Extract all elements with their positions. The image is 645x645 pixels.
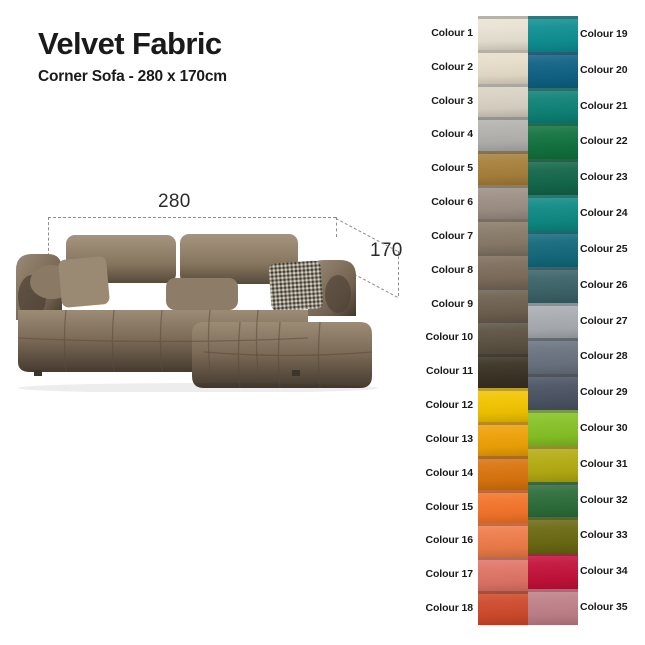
- swatch-label-colour-29: Colour 29: [580, 387, 628, 398]
- swatch-sheen: [528, 517, 578, 553]
- swatch-colour-30[interactable]: [528, 410, 578, 446]
- swatch-label-colour-33: Colour 33: [580, 530, 628, 541]
- swatch-label-colour-26: Colour 26: [580, 280, 628, 291]
- swatch-sheen: [478, 320, 528, 354]
- swatch-label-colour-27: Colour 27: [580, 316, 628, 327]
- swatch-label-colour-5: Colour 5: [431, 163, 473, 174]
- swatch-label-colour-23: Colour 23: [580, 172, 628, 183]
- swatch-label-colour-19: Colour 19: [580, 29, 628, 40]
- swatch-colour-3[interactable]: [478, 84, 528, 118]
- swatch-label-colour-32: Colour 32: [580, 495, 628, 506]
- swatch-label-colour-22: Colour 22: [580, 136, 628, 147]
- swatch-sheen: [478, 50, 528, 84]
- swatch-colour-7[interactable]: [478, 219, 528, 253]
- swatch-sheen: [528, 553, 578, 589]
- swatch-colour-35[interactable]: [528, 589, 578, 625]
- swatch-sheen: [478, 253, 528, 287]
- page-subtitle: Corner Sofa - 280 x 170cm: [38, 68, 227, 86]
- swatch-colour-5[interactable]: [478, 151, 528, 185]
- swatch-colour-28[interactable]: [528, 338, 578, 374]
- swatch-label-colour-15: Colour 15: [425, 502, 473, 513]
- swatch-colour-14[interactable]: [478, 456, 528, 490]
- swatch-sheen: [478, 456, 528, 490]
- swatch-colour-21[interactable]: [528, 88, 578, 124]
- swatch-sheen: [478, 219, 528, 253]
- swatch-label-colour-20: Colour 20: [580, 65, 628, 76]
- swatch-colour-31[interactable]: [528, 446, 578, 482]
- swatch-label-colour-11: Colour 11: [426, 366, 473, 377]
- swatch-sheen: [528, 16, 578, 52]
- swatch-label-colour-10: Colour 10: [425, 332, 473, 343]
- swatch-label-colour-14: Colour 14: [425, 468, 473, 479]
- swatch-sheen: [528, 446, 578, 482]
- swatch-label-colour-24: Colour 24: [580, 208, 628, 219]
- swatch-colour-19[interactable]: [528, 16, 578, 52]
- swatch-label-colour-28: Colour 28: [580, 351, 628, 362]
- swatch-label-colour-6: Colour 6: [431, 197, 473, 208]
- swatch-label-colour-35: Colour 35: [580, 602, 628, 613]
- swatch-sheen: [478, 287, 528, 321]
- swatch-label-colour-13: Colour 13: [425, 434, 473, 445]
- swatch-colour-16[interactable]: [478, 523, 528, 557]
- swatch-sheen: [528, 410, 578, 446]
- swatch-label-colour-12: Colour 12: [425, 400, 473, 411]
- width-dimension-line: [48, 217, 336, 218]
- swatch-label-colour-7: Colour 7: [431, 231, 473, 242]
- swatch-colour-17[interactable]: [478, 557, 528, 591]
- swatch-colour-2[interactable]: [478, 50, 528, 84]
- title-block: Velvet Fabric Corner Sofa - 280 x 170cm: [38, 28, 227, 86]
- swatch-sheen: [528, 374, 578, 410]
- swatch-colour-29[interactable]: [528, 374, 578, 410]
- swatch-colour-32[interactable]: [528, 482, 578, 518]
- swatch-colour-6[interactable]: [478, 185, 528, 219]
- swatch-sheen: [528, 88, 578, 124]
- swatch-colour-34[interactable]: [528, 553, 578, 589]
- swatch-colour-33[interactable]: [528, 517, 578, 553]
- swatch-colour-15[interactable]: [478, 490, 528, 524]
- swatch-colour-11[interactable]: [478, 354, 528, 388]
- swatch-sheen: [478, 84, 528, 118]
- swatch-sheen: [528, 52, 578, 88]
- page-title: Velvet Fabric: [38, 28, 227, 59]
- swatch-label-colour-2: Colour 2: [431, 62, 473, 73]
- swatch-sheen: [478, 151, 528, 185]
- swatch-colour-8[interactable]: [478, 253, 528, 287]
- product-spec-sheet: Velvet Fabric Corner Sofa - 280 x 170cm …: [0, 0, 645, 645]
- swatch-sheen: [528, 589, 578, 625]
- swatch-label-colour-21: Colour 21: [580, 101, 628, 112]
- swatch-sheen: [528, 195, 578, 231]
- swatch-label-colour-3: Colour 3: [431, 96, 473, 107]
- swatch-label-colour-30: Colour 30: [580, 423, 628, 434]
- swatch-sheen: [478, 388, 528, 422]
- swatch-sheen: [528, 303, 578, 339]
- swatch-colour-1[interactable]: [478, 16, 528, 50]
- swatch-sheen: [478, 557, 528, 591]
- swatch-colour-9[interactable]: [478, 287, 528, 321]
- swatch-sheen: [528, 338, 578, 374]
- swatch-column-right: [528, 16, 578, 625]
- swatch-sheen: [528, 123, 578, 159]
- swatch-colour-13[interactable]: [478, 422, 528, 456]
- swatch-sheen: [478, 16, 528, 50]
- swatch-sheen: [478, 354, 528, 388]
- swatch-label-colour-8: Colour 8: [431, 265, 473, 276]
- swatch-label-colour-16: Colour 16: [425, 535, 473, 546]
- swatch-colour-23[interactable]: [528, 159, 578, 195]
- swatch-colour-12[interactable]: [478, 388, 528, 422]
- swatch-column-left: [478, 16, 528, 625]
- swatch-colour-4[interactable]: [478, 117, 528, 151]
- swatch-sheen: [528, 267, 578, 303]
- swatch-label-colour-25: Colour 25: [580, 244, 628, 255]
- swatch-label-colour-18: Colour 18: [425, 603, 473, 614]
- swatch-label-colour-9: Colour 9: [431, 299, 473, 310]
- fabric-swatch-panel: Colour 1Colour 2Colour 3Colour 4Colour 5…: [408, 0, 645, 645]
- swatch-colour-24[interactable]: [528, 195, 578, 231]
- swatch-label-colour-4: Colour 4: [431, 129, 473, 140]
- corner-sofa-photo: [8, 222, 408, 392]
- swatch-label-colour-1: Colour 1: [431, 28, 473, 39]
- swatch-sheen: [528, 231, 578, 267]
- swatch-colour-10[interactable]: [478, 320, 528, 354]
- swatch-label-colour-31: Colour 31: [580, 459, 628, 470]
- swatch-sheen: [478, 523, 528, 557]
- swatch-colour-20[interactable]: [528, 52, 578, 88]
- swatch-colour-26[interactable]: [528, 267, 578, 303]
- swatch-sheen: [478, 117, 528, 151]
- swatch-colour-18[interactable]: [478, 591, 528, 625]
- width-dimension-label: 280: [158, 191, 191, 213]
- swatch-sheen: [478, 591, 528, 625]
- swatch-colour-22[interactable]: [528, 123, 578, 159]
- swatch-sheen: [528, 482, 578, 518]
- swatch-sheen: [478, 422, 528, 456]
- swatch-sheen: [478, 490, 528, 524]
- swatch-label-colour-34: Colour 34: [580, 566, 628, 577]
- swatch-sheen: [528, 159, 578, 195]
- swatch-colour-27[interactable]: [528, 303, 578, 339]
- swatch-sheen: [478, 185, 528, 219]
- swatch-colour-25[interactable]: [528, 231, 578, 267]
- swatch-label-colour-17: Colour 17: [425, 569, 473, 580]
